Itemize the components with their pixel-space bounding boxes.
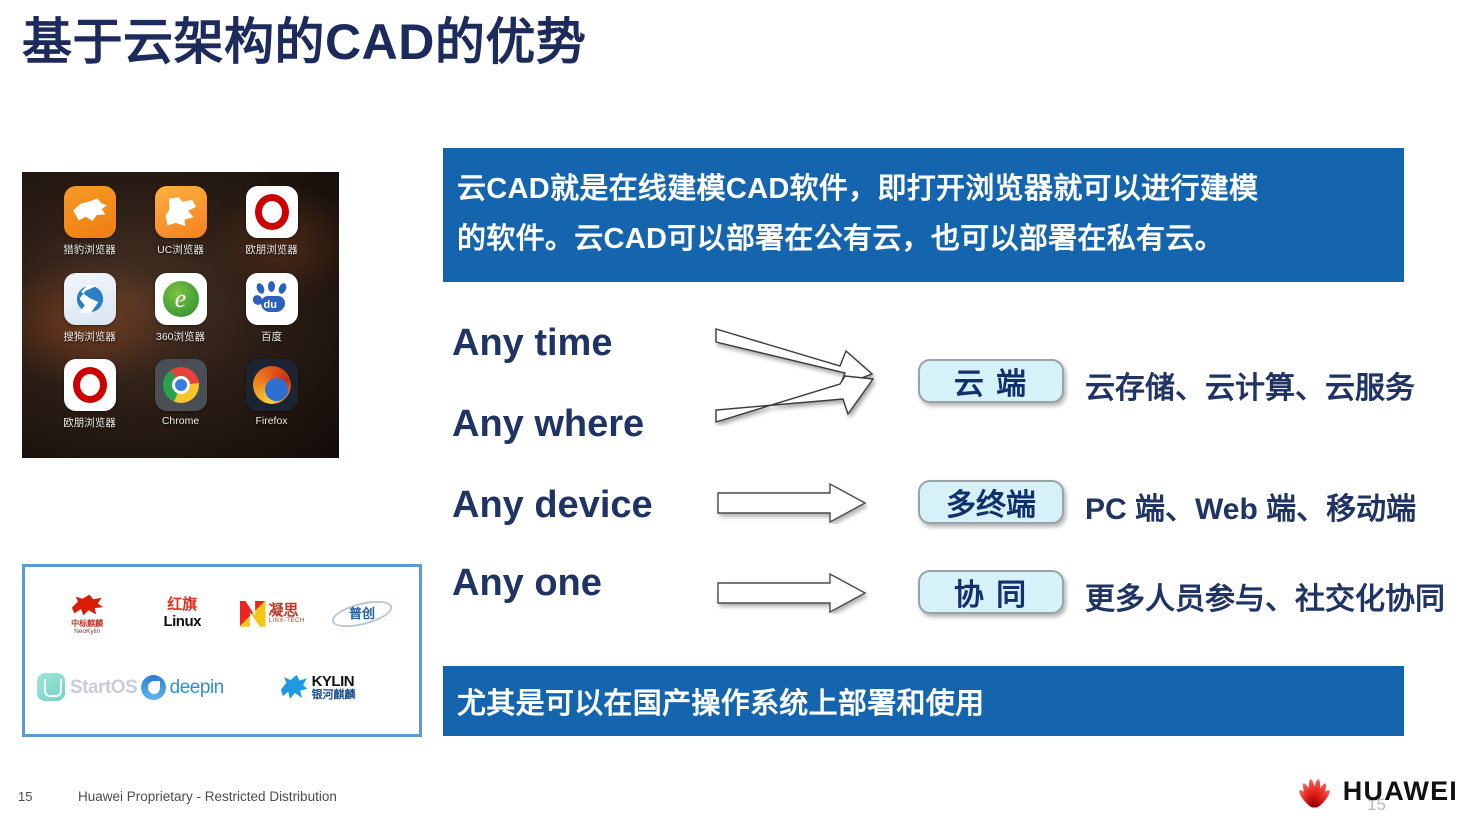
list-item: Firefox [226, 359, 317, 446]
kylin-mark-icon [279, 673, 309, 701]
pill-multi-device: 多终端 [918, 480, 1064, 524]
opera-browser-icon [64, 359, 116, 411]
footer-page-number: 15 [18, 789, 32, 804]
app-label: 百度 [261, 329, 282, 344]
linx-label-en: LINX-TECH [269, 618, 305, 624]
deepin-mark-icon [141, 675, 166, 700]
app-label: 欧朋浏览器 [63, 415, 116, 430]
list-item: Chrome [135, 359, 226, 446]
360-browser-icon [155, 273, 207, 325]
desc-cloud: 云存储、云计算、云服务 [1085, 363, 1415, 407]
footer-confidentiality-note: Huawei Proprietary - Restricted Distribu… [78, 789, 337, 804]
domestic-os-logos-panel: 中标麒麟 NeoKylin 红旗 Linux 凝思 LINX-TECH 普创 [22, 564, 422, 737]
firefox-icon [246, 359, 298, 411]
definition-line-2: 的软件。云CAD可以部署在公有云，也可以部署在私有云。 [457, 214, 1386, 264]
pill-collaboration: 协 同 [918, 570, 1064, 614]
converging-arrows-icon [712, 326, 880, 426]
any-one-label: Any one [452, 562, 602, 605]
puchuang-label-cn: 普创 [349, 607, 375, 620]
list-item: 欧朋浏览器 [44, 359, 135, 446]
neokylin-logo: 中标麒麟 NeoKylin [68, 592, 106, 636]
desc-multi-device: PC 端、Web 端、移动端 [1085, 484, 1416, 528]
kylin-logo: KYLIN 银河麒麟 [279, 673, 356, 701]
startos-logo: StartOS [37, 673, 137, 701]
browser-apps-screenshot: 猎豹浏览器 UC浏览器 欧朋浏览器 搜狗浏览器 360浏览器 du [22, 172, 339, 458]
kylin-label-cn: 银河麒麟 [312, 690, 356, 701]
opera-browser-icon [246, 186, 298, 238]
startos-label: StartOS [70, 678, 137, 697]
domestic-os-banner-text: 尤其是可以在国产操作系统上部署和使用 [457, 680, 984, 722]
chrome-icon [155, 359, 207, 411]
puchuang-logo: 普创 [331, 599, 393, 629]
cheetah-browser-icon [64, 186, 116, 238]
right-arrow-icon [716, 572, 868, 614]
desc-collaboration: 更多人员参与、社交化协同 [1085, 574, 1445, 618]
neokylin-label-en: NeoKylin [74, 629, 100, 636]
domestic-os-banner: 尤其是可以在国产操作系统上部署和使用 [443, 666, 1404, 736]
app-label: 搜狗浏览器 [63, 329, 116, 344]
app-label: UC浏览器 [157, 242, 204, 257]
any-where-label: Any where [452, 403, 644, 446]
uc-browser-icon [155, 186, 207, 238]
huawei-flower-icon [1292, 777, 1334, 807]
pill-cloud: 云 端 [918, 359, 1064, 403]
kylin-label-en: KYLIN [312, 674, 356, 689]
list-item: UC浏览器 [135, 186, 226, 273]
any-device-label: Any device [452, 484, 653, 527]
app-label: Chrome [162, 415, 199, 427]
sogou-browser-icon [64, 273, 116, 325]
app-label: Firefox [255, 415, 287, 427]
list-item: du 百度 [226, 273, 317, 360]
definition-banner: 云CAD就是在线建模CAD软件，即打开浏览器就可以进行建模 的软件。云CAD可以… [443, 148, 1404, 282]
redflag-label-en: Linux [163, 614, 201, 629]
list-item: 猎豹浏览器 [44, 186, 135, 273]
neokylin-label-cn: 中标麒麟 [71, 620, 103, 628]
linx-label-cn: 凝思 [269, 603, 305, 618]
startos-mark-icon [37, 673, 65, 701]
huawei-logo: HUAWEI [1292, 776, 1458, 807]
browser-icon-grid: 猎豹浏览器 UC浏览器 欧朋浏览器 搜狗浏览器 360浏览器 du [22, 172, 339, 458]
app-label: 欧朋浏览器 [245, 242, 298, 257]
redflag-label-cn: 红旗 [167, 598, 197, 613]
list-item: 360浏览器 [135, 273, 226, 360]
any-time-label: Any time [452, 322, 612, 365]
linx-tech-logo: 凝思 LINX-TECH [240, 601, 305, 627]
redflag-linux-logo: 红旗 Linux [163, 598, 201, 629]
linx-mark-icon [240, 601, 266, 627]
list-item: 搜狗浏览器 [44, 273, 135, 360]
app-label: 猎豹浏览器 [63, 242, 116, 257]
definition-line-1: 云CAD就是在线建模CAD软件，即打开浏览器就可以进行建模 [457, 164, 1386, 214]
page-title: 基于云架构的CAD的优势 [22, 2, 586, 74]
app-label: 360浏览器 [156, 329, 205, 344]
huawei-wordmark: HUAWEI [1343, 776, 1458, 807]
baidu-icon: du [246, 273, 298, 325]
list-item: 欧朋浏览器 [226, 186, 317, 273]
deepin-logo: deepin [141, 675, 224, 700]
deepin-label: deepin [170, 678, 224, 697]
right-arrow-icon [716, 482, 868, 524]
